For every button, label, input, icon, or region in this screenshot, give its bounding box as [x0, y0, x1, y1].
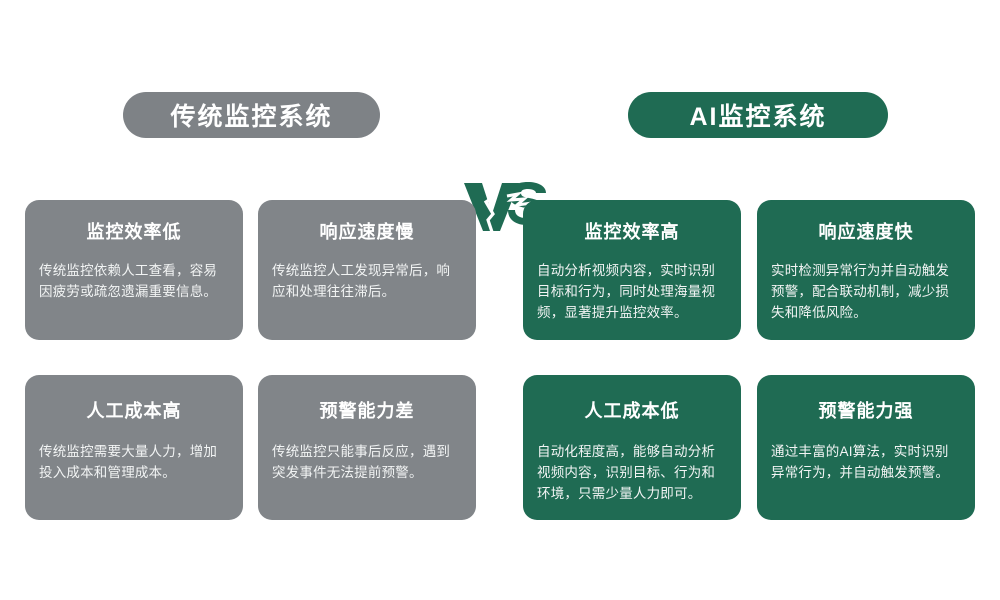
ai-system-title-pill: AI监控系统 — [628, 92, 888, 138]
card-title: 预警能力强 — [771, 397, 961, 423]
card-title: 人工成本低 — [537, 397, 727, 423]
card-body: 传统监控人工发现异常后，响应和处理往往滞后。 — [272, 260, 462, 302]
card-title: 预警能力差 — [272, 397, 462, 423]
card-body: 传统监控只能事后反应，遇到突发事件无法提前预警。 — [272, 441, 462, 483]
traditional-system-title: 传统监控系统 — [170, 97, 332, 133]
card-title: 监控效率低 — [39, 218, 229, 244]
card-body: 传统监控需要大量人力，增加投入成本和管理成本。 — [39, 441, 229, 483]
traditional-card-response-speed: 响应速度慢 传统监控人工发现异常后，响应和处理往往滞后。 — [258, 200, 476, 340]
comparison-header: 传统监控系统 AI监控系统 — [0, 92, 1000, 138]
card-title: 响应速度慢 — [272, 218, 462, 244]
ai-card-early-warning: 预警能力强 通过丰富的AI算法，实时识别异常行为，并自动触发预警。 — [757, 375, 975, 520]
traditional-card-monitoring-efficiency: 监控效率低 传统监控依赖人工查看，容易因疲劳或疏忽遗漏重要信息。 — [25, 200, 243, 340]
ai-card-labor-cost: 人工成本低 自动化程度高，能够自动分析视频内容，识别目标、行为和环境，只需少量人… — [523, 375, 741, 520]
traditional-system-title-pill: 传统监控系统 — [123, 92, 380, 138]
ai-system-title: AI监控系统 — [689, 97, 826, 133]
ai-card-monitoring-efficiency: 监控效率高 自动分析视频内容，实时识别目标和行为，同时处理海量视频，显著提升监控… — [523, 200, 741, 340]
card-body: 自动化程度高，能够自动分析视频内容，识别目标、行为和环境，只需少量人力即可。 — [537, 441, 727, 504]
traditional-card-labor-cost: 人工成本高 传统监控需要大量人力，增加投入成本和管理成本。 — [25, 375, 243, 520]
traditional-card-early-warning: 预警能力差 传统监控只能事后反应，遇到突发事件无法提前预警。 — [258, 375, 476, 520]
card-body: 自动分析视频内容，实时识别目标和行为，同时处理海量视频，显著提升监控效率。 — [537, 260, 727, 323]
card-body: 传统监控依赖人工查看，容易因疲劳或疏忽遗漏重要信息。 — [39, 260, 229, 302]
card-body: 实时检测异常行为并自动触发预警，配合联动机制，减少损失和降低风险。 — [771, 260, 961, 323]
card-title: 监控效率高 — [537, 218, 727, 244]
card-title: 响应速度快 — [771, 218, 961, 244]
card-title: 人工成本高 — [39, 397, 229, 423]
ai-card-response-speed: 响应速度快 实时检测异常行为并自动触发预警，配合联动机制，减少损失和降低风险。 — [757, 200, 975, 340]
card-body: 通过丰富的AI算法，实时识别异常行为，并自动触发预警。 — [771, 441, 961, 483]
